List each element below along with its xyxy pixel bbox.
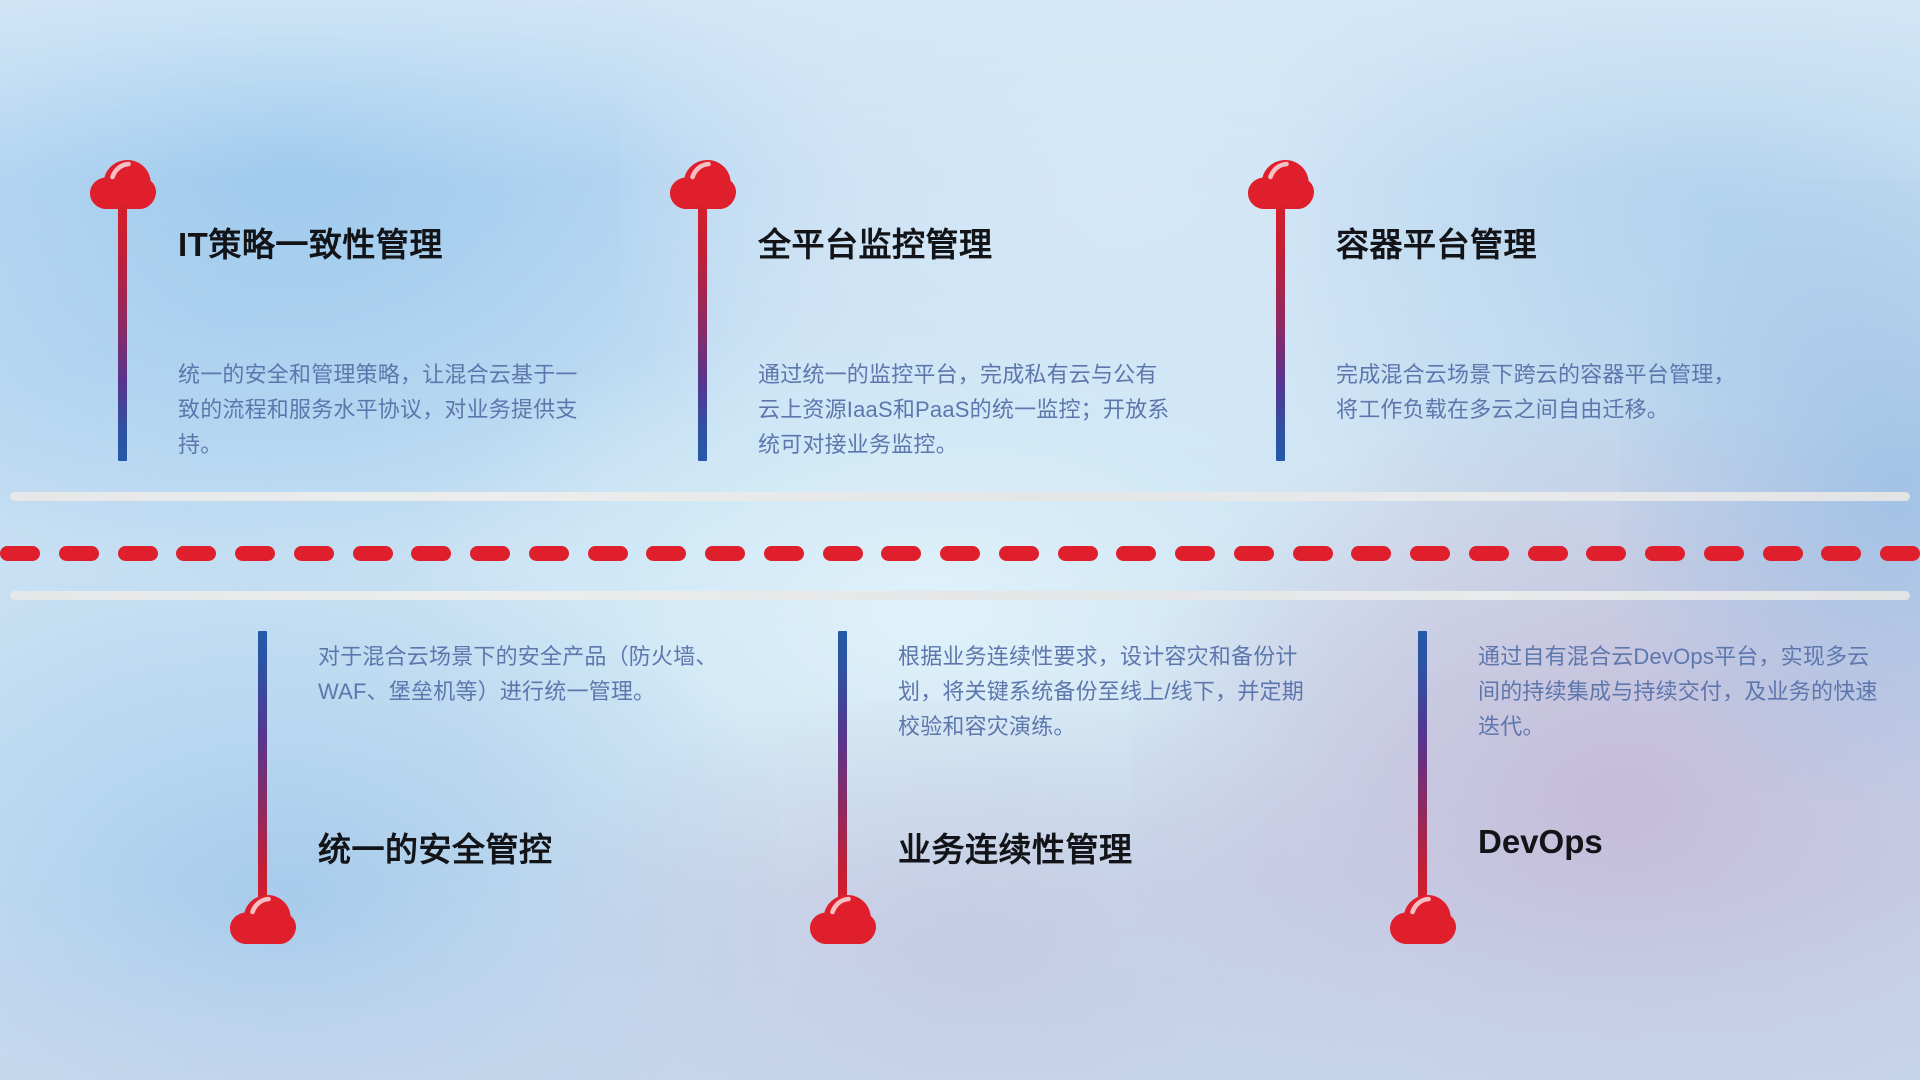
divider-dash bbox=[1175, 546, 1215, 561]
divider-dash bbox=[353, 546, 393, 561]
divider-dash bbox=[1293, 546, 1333, 561]
timeline-stem-bottom-1 bbox=[258, 631, 267, 907]
divider-dash bbox=[1763, 546, 1803, 561]
item-heading-bottom-3: DevOps bbox=[1478, 823, 1603, 861]
divider-dash bbox=[1645, 546, 1685, 561]
timeline-stem-bottom-2 bbox=[838, 631, 847, 907]
cloud-icon bbox=[90, 160, 156, 210]
divider-dash bbox=[646, 546, 686, 561]
divider-dash bbox=[1351, 546, 1391, 561]
divider-dash bbox=[823, 546, 863, 561]
item-heading-top-3: 容器平台管理 bbox=[1336, 218, 1537, 266]
divider-dash bbox=[1821, 546, 1861, 561]
divider-dash bbox=[59, 546, 99, 561]
cloud-icon bbox=[230, 895, 296, 945]
cloud-icon bbox=[1390, 895, 1456, 945]
timeline-stem-bottom-3 bbox=[1418, 631, 1427, 907]
divider-dash bbox=[1116, 546, 1156, 561]
divider-dash bbox=[705, 546, 745, 561]
divider-dash bbox=[294, 546, 334, 561]
divider-dash bbox=[118, 546, 158, 561]
item-heading-top-1: IT策略一致性管理 bbox=[178, 218, 443, 266]
item-body-top-3: 完成混合云场景下跨云的容器平台管理，将工作负载在多云之间自由迁移。 bbox=[1336, 357, 1748, 427]
item-body-bottom-3: 通过自有混合云DevOps平台，实现多云间的持续集成与持续交付，及业务的快速迭代… bbox=[1478, 639, 1890, 744]
divider-dashed-line bbox=[0, 545, 1920, 561]
divider-dash bbox=[1234, 546, 1274, 561]
divider-dash bbox=[1704, 546, 1744, 561]
item-body-top-2: 通过统一的监控平台，完成私有云与公有云上资源IaaS和PaaS的统一监控；开放系… bbox=[758, 357, 1170, 462]
divider-dash bbox=[764, 546, 804, 561]
divider-dash bbox=[529, 546, 569, 561]
divider-dash bbox=[1469, 546, 1509, 561]
timeline-stem-top-1 bbox=[118, 205, 127, 461]
divider-dash bbox=[1586, 546, 1626, 561]
divider-dash bbox=[411, 546, 451, 561]
divider-dash bbox=[0, 546, 40, 561]
cloud-icon bbox=[810, 895, 876, 945]
divider-dash bbox=[1528, 546, 1568, 561]
item-body-bottom-2: 根据业务连续性要求，设计容灾和备份计划，将关键系统备份至线上/线下，并定期校验和… bbox=[898, 639, 1310, 744]
divider-line-upper bbox=[10, 492, 1910, 501]
cloud-icon bbox=[670, 160, 736, 210]
timeline-stem-top-3 bbox=[1276, 205, 1285, 461]
divider-dash bbox=[470, 546, 510, 561]
cloud-icon bbox=[1248, 160, 1314, 210]
timeline-stem-top-2 bbox=[698, 205, 707, 461]
item-heading-bottom-2: 业务连续性管理 bbox=[898, 823, 1133, 871]
divider-dash bbox=[588, 546, 628, 561]
divider-dash bbox=[176, 546, 216, 561]
divider-dash bbox=[235, 546, 275, 561]
divider-dash bbox=[940, 546, 980, 561]
divider-dash bbox=[1058, 546, 1098, 561]
item-heading-top-2: 全平台监控管理 bbox=[758, 218, 993, 266]
divider-dash bbox=[1410, 546, 1450, 561]
divider-line-lower bbox=[10, 591, 1910, 600]
item-body-top-1: 统一的安全和管理策略，让混合云基于一致的流程和服务水平协议，对业务提供支持。 bbox=[178, 357, 590, 462]
divider-dash bbox=[881, 546, 921, 561]
divider-dash bbox=[999, 546, 1039, 561]
item-heading-bottom-1: 统一的安全管控 bbox=[318, 823, 553, 871]
divider-dash bbox=[1880, 546, 1920, 561]
item-body-bottom-1: 对于混合云场景下的安全产品（防火墙、WAF、堡垒机等）进行统一管理。 bbox=[318, 639, 730, 709]
